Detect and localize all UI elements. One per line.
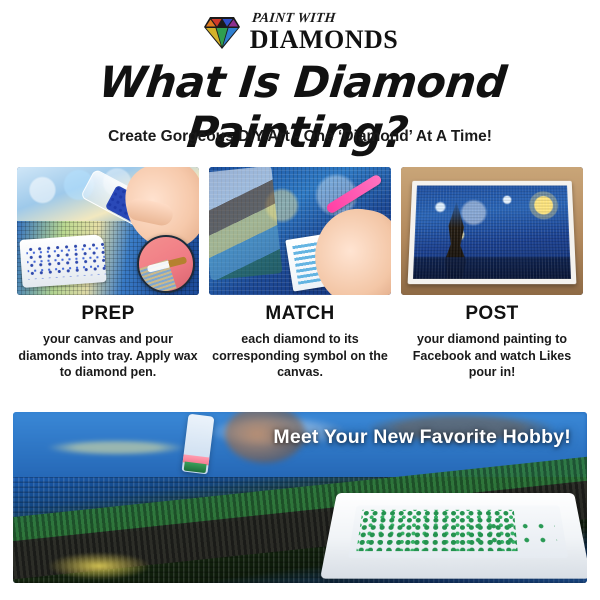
banner-green-drills-sparse: [470, 520, 559, 549]
step-caption-row: PREP your canvas and pour diamonds into …: [17, 303, 583, 381]
step-body-post: your diamond painting to Facebook and wa…: [401, 331, 583, 381]
post-village: [413, 258, 571, 279]
post-cypress-tree: [438, 202, 474, 279]
brand-line-1: PAINT WITH: [251, 12, 399, 26]
infographic-page: PAINT WITH DIAMONDS What Is Diamond Pain…: [0, 0, 600, 600]
step-caption-post: POST your diamond painting to Facebook a…: [401, 303, 583, 381]
step-caption-prep: PREP your canvas and pour diamonds into …: [17, 303, 199, 381]
diamond-gem-icon: [202, 15, 242, 51]
step-image-match: [209, 167, 391, 295]
step-title-prep: PREP: [17, 303, 199, 325]
prep-wax-inset: [137, 235, 195, 293]
step-caption-match: MATCH each diamond to its corresponding …: [209, 303, 391, 381]
banner-yellow-glow: [47, 552, 150, 579]
step-title-match: MATCH: [209, 303, 391, 325]
step-body-match: each diamond to its corresponding symbol…: [209, 331, 391, 381]
match-drill-bags: [209, 167, 282, 280]
brand-logo: PAINT WITH DIAMONDS: [0, 12, 600, 53]
post-finished-canvas: [408, 181, 577, 284]
post-starry-night-art: [413, 186, 571, 279]
step-image-post: [401, 167, 583, 295]
hero-banner: Meet Your New Favorite Hobby!: [13, 412, 587, 583]
banner-pen-green-drill: [184, 462, 207, 474]
page-subtitle: Create Gorgeous DIY Art - One ‘Diamond’ …: [0, 128, 600, 146]
brand-wordmark: PAINT WITH DIAMONDS: [250, 12, 398, 53]
banner-white-tray: [320, 493, 587, 579]
step-image-prep: [17, 167, 199, 295]
brand-line-2: DIAMONDS: [250, 27, 398, 53]
banner-headline: Meet Your New Favorite Hobby!: [273, 426, 571, 449]
step-title-post: POST: [401, 303, 583, 325]
step-image-row: [17, 167, 583, 295]
prep-blue-drills: [26, 240, 106, 279]
step-body-prep: your canvas and pour diamonds into tray.…: [17, 331, 199, 381]
